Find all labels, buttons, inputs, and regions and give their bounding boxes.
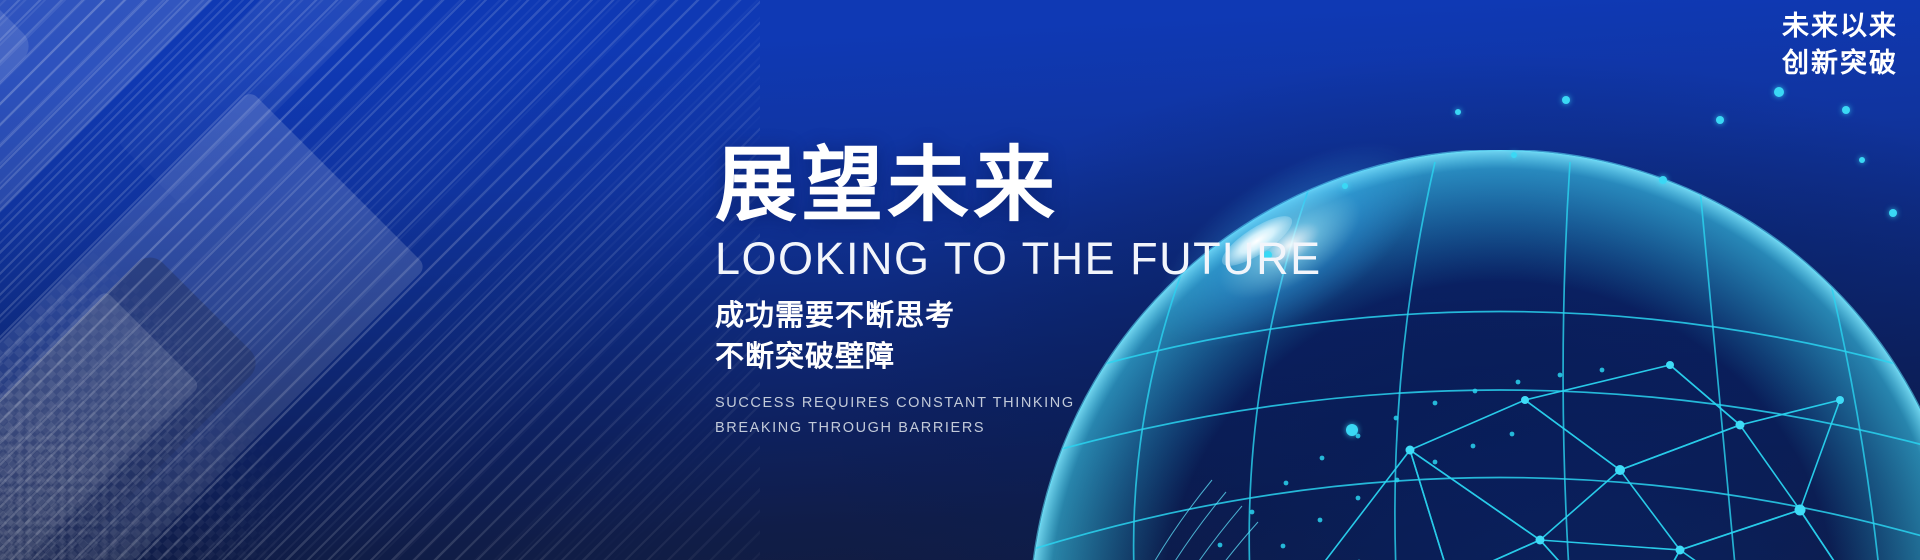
subtitle-en: SUCCESS REQUIRES CONSTANT THINKING BREAK… bbox=[715, 391, 1435, 442]
floating-dot bbox=[1511, 152, 1517, 158]
banner-root: 展望未来 LOOKING TO THE FUTURE 成功需要不断思考 不断突破… bbox=[0, 0, 1920, 560]
floating-dot bbox=[1716, 116, 1724, 124]
subtitle-cn-line1: 成功需要不断思考 bbox=[715, 296, 1435, 337]
floating-dot bbox=[1889, 209, 1897, 217]
floating-dot bbox=[1859, 157, 1865, 163]
page-title-cn: 展望未来 bbox=[715, 145, 1435, 227]
subtitle-en-line2: BREAKING THROUGH BARRIERS bbox=[715, 416, 1435, 441]
left-decorative-artwork bbox=[0, 0, 760, 560]
floating-dot bbox=[1842, 106, 1850, 114]
headline-block: 展望未来 LOOKING TO THE FUTURE 成功需要不断思考 不断突破… bbox=[715, 145, 1435, 441]
floating-dot bbox=[1774, 87, 1784, 97]
floating-dot bbox=[1455, 109, 1461, 115]
subtitle-cn-line2: 不断突破壁障 bbox=[715, 337, 1435, 378]
diagonal-stripes-secondary bbox=[0, 0, 760, 560]
corner-tagline-line1: 未来以来 bbox=[1782, 8, 1898, 45]
subtitle-en-line1: SUCCESS REQUIRES CONSTANT THINKING bbox=[715, 391, 1435, 416]
corner-tagline: 未来以来 创新突破 bbox=[1782, 8, 1898, 83]
page-title-en: LOOKING TO THE FUTURE bbox=[715, 235, 1435, 282]
floating-dot bbox=[1659, 176, 1667, 184]
floating-dot bbox=[1562, 96, 1570, 104]
corner-tagline-line2: 创新突破 bbox=[1782, 45, 1898, 82]
